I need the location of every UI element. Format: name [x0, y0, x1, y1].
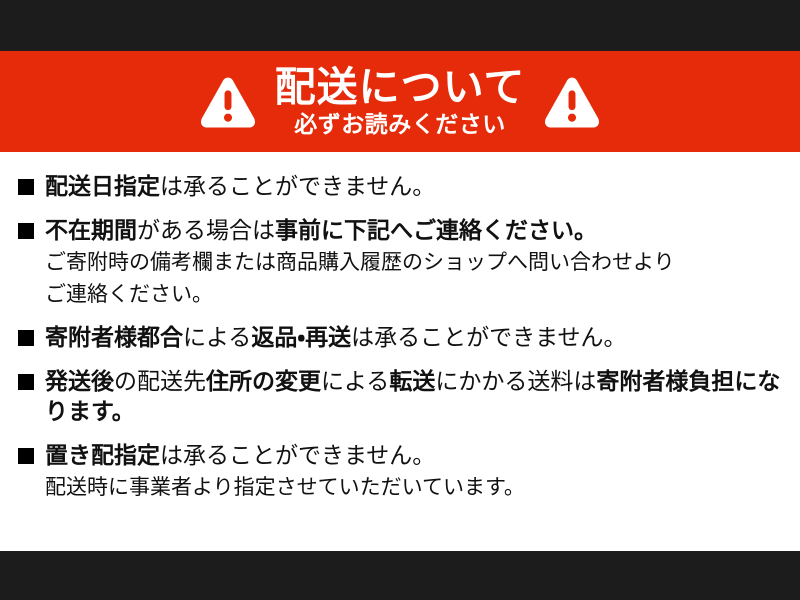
header-text-block: 配送について 必ずお読みください — [275, 67, 526, 136]
notice-item-subline: 配送時に事業者より指定させていただいています。 — [45, 473, 788, 503]
notice-text-segment: 転送 — [389, 368, 435, 394]
notice-text-segment: 発送後 — [45, 368, 114, 394]
notice-text-segment: は承ることができません。 — [351, 324, 626, 350]
page-title: 配送について — [275, 67, 526, 113]
square-bullet-icon — [18, 374, 34, 390]
notice-item-subline: ご寄附時の備考欄または商品購入履歴のショップへ問い合わせより — [45, 248, 788, 278]
notice-text-segment: 不在期間 — [45, 217, 137, 243]
square-bullet-icon — [18, 448, 34, 464]
notice-list: 配送日指定は承ることができません。不在期間がある場合は事前に下記へご連絡ください… — [0, 152, 800, 551]
notice-item-body: 不在期間がある場合は事前に下記へご連絡ください。ご寄附時の備考欄または商品購入履… — [45, 216, 788, 310]
top-dark-bar — [0, 0, 800, 51]
square-bullet-icon — [18, 223, 34, 239]
notice-item-text: 配送日指定は承ることができません。 — [45, 172, 788, 202]
notice-item: 寄附者様都合による返品・再送は承ることができません。 — [18, 323, 788, 353]
notice-item-body: 配送日指定は承ることができません。 — [45, 172, 788, 202]
notice-text-segment: は承ることができません。 — [160, 442, 435, 468]
notice-item-text: 不在期間がある場合は事前に下記へご連絡ください。 — [45, 216, 788, 246]
notice-item: 置き配指定は承ることができません。配送時に事業者より指定させていただいています。 — [18, 441, 788, 503]
notice-item-text: 寄附者様都合による返品・再送は承ることができません。 — [45, 323, 788, 353]
bottom-dark-bar — [0, 551, 800, 600]
notice-text-segment: 置き配指定 — [45, 442, 160, 468]
notice-text-segment: 寄附者様都合 — [45, 324, 183, 350]
notice-text-segment: がある場合は — [137, 217, 275, 243]
notice-text-segment: 住所の変更 — [206, 368, 321, 394]
notice-text-segment: の配送先 — [114, 368, 206, 394]
notice-item-body: 置き配指定は承ることができません。配送時に事業者より指定させていただいています。 — [45, 441, 788, 503]
notice-item-subline: ご連絡ください。 — [45, 280, 788, 310]
notice-text-segment: 事前に下記へご連絡ください。 — [275, 217, 597, 243]
notice-text-segment: 配送日指定 — [45, 173, 160, 199]
notice-item: 配送日指定は承ることができません。 — [18, 172, 788, 202]
notice-text-segment: による — [183, 324, 251, 350]
warning-triangle-icon-right — [543, 73, 601, 131]
warning-triangle-icon-left — [199, 73, 257, 131]
notice-item: 不在期間がある場合は事前に下記へご連絡ください。ご寄附時の備考欄または商品購入履… — [18, 216, 788, 310]
notice-item-body: 寄附者様都合による返品・再送は承ることができません。 — [45, 323, 788, 353]
notice-item: 発送後の配送先住所の変更による転送にかかる送料は寄附者様負担になります。 — [18, 367, 788, 427]
notice-text-segment: にかかる送料は — [435, 368, 596, 394]
notice-text-segment: は承ることができません。 — [160, 173, 435, 199]
page-subtitle: 必ずお読みください — [294, 113, 506, 136]
shipping-notice-banner: 配送について 必ずお読みください 配送日指定は承ることができません。不在期間があ… — [0, 0, 800, 600]
notice-text-segment: による — [321, 368, 389, 394]
notice-item-text: 発送後の配送先住所の変更による転送にかかる送料は寄附者様負担になります。 — [45, 367, 788, 427]
notice-text-segment: 返品・再送 — [251, 324, 351, 350]
notice-item-body: 発送後の配送先住所の変更による転送にかかる送料は寄附者様負担になります。 — [45, 367, 788, 427]
header-banner: 配送について 必ずお読みください — [0, 51, 800, 152]
notice-item-text: 置き配指定は承ることができません。 — [45, 441, 788, 471]
square-bullet-icon — [18, 330, 34, 346]
square-bullet-icon — [18, 179, 34, 195]
